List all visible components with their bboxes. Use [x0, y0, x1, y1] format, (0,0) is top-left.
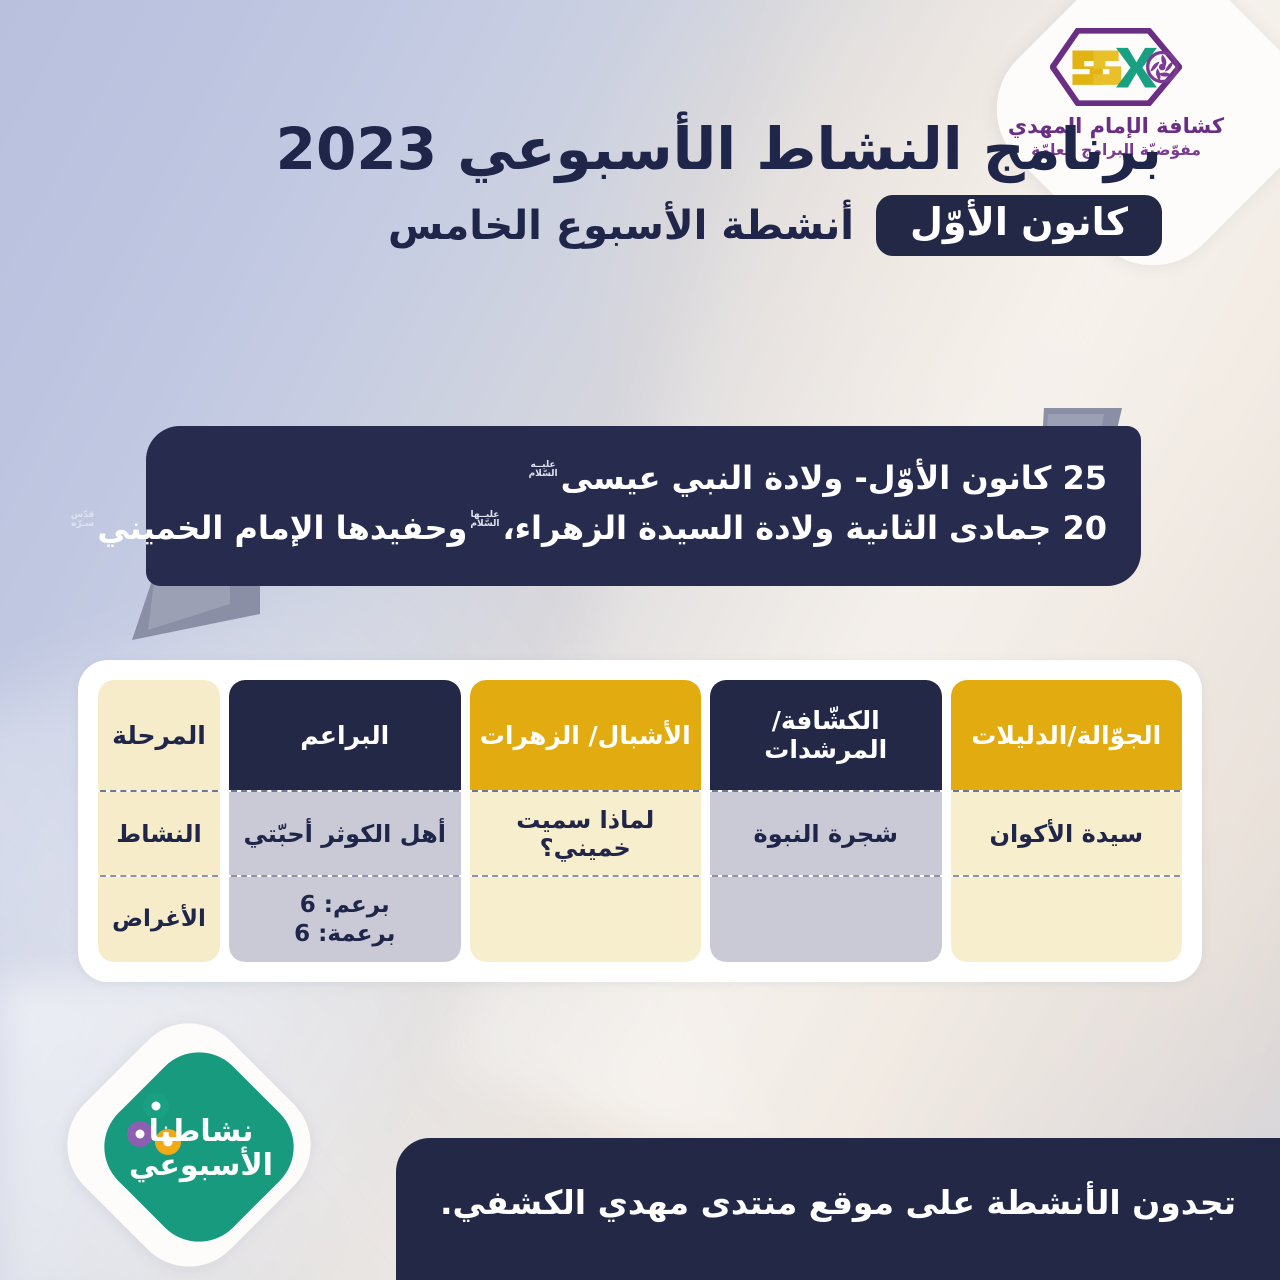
activity-cell: أهل الكوثر أحبّتي: [229, 792, 461, 875]
row-divider: [712, 875, 940, 877]
honorific-bottom: سـرّه: [71, 520, 95, 529]
row-divider: [100, 875, 218, 877]
ribbon-body: 25 كانون الأوّل- ولادة النبي عيسى عليــه…: [146, 426, 1141, 586]
row-divider: [953, 875, 1181, 877]
ribbon-line-1-text: 25 كانون الأوّل- ولادة النبي عيسى: [561, 454, 1107, 504]
flowers-icon: [126, 1090, 198, 1176]
ribbon-line-2: 20 جمادى الثانية ولادة السيدة الزهراء، ع…: [68, 504, 1107, 554]
supplies-list: برعم: 6 برعمة: 6: [294, 891, 395, 949]
ribbon-line-2-text-a: 20 جمادى الثانية ولادة السيدة الزهراء،: [502, 504, 1107, 554]
activities-table: الجوّالة/الدليلات سيدة الأكوان الكشّافة/…: [98, 680, 1182, 962]
month-badge: كانون الأوّل: [876, 195, 1162, 257]
honorific-bottom: السّلام: [470, 520, 499, 529]
row-divider: [712, 790, 940, 792]
row-label-stage: المرحلة: [98, 680, 220, 790]
heading-second-row: كانون الأوّل أنشطة الأسبوع الخامس: [402, 195, 1162, 257]
table-column-baraem: البراعم أهل الكوثر أحبّتي برعم: 6 برعمة:…: [229, 680, 461, 962]
row-divider: [231, 790, 459, 792]
ribbon-line-1: 25 كانون الأوّل- ولادة النبي عيسى عليــه…: [526, 454, 1107, 504]
table-column-ashbal: الأشبال/ الزهرات لماذا سميت خميني؟: [470, 680, 702, 962]
column-header: البراعم: [229, 680, 461, 790]
activity-cell: سيدة الأكوان: [951, 792, 1183, 875]
column-header: الكشّافة/المرشدات: [710, 680, 942, 790]
supplies-cell: [710, 877, 942, 962]
occasions-ribbon: 25 كانون الأوّل- ولادة النبي عيسى عليــه…: [110, 404, 1180, 654]
supplies-cell: [951, 877, 1183, 962]
row-label-activity: النشاط: [98, 792, 220, 875]
weekly-badge-shape: [84, 1032, 313, 1261]
footer-text: تجدون الأنشطة على موقع منتدى مهدي الكشفي…: [440, 1183, 1236, 1222]
footer-bar: تجدون الأنشطة على موقع منتدى مهدي الكشفي…: [396, 1138, 1280, 1280]
honorific-quddisa-sirruh: قدّس سـرّه: [71, 511, 95, 529]
activity-cell: لماذا سميت خميني؟: [470, 792, 702, 875]
row-label-supplies: الأغراض: [98, 877, 220, 962]
activities-table-panel: الجوّالة/الدليلات سيدة الأكوان الكشّافة/…: [78, 660, 1202, 982]
supplies-cell: [470, 877, 702, 962]
row-divider: [953, 790, 1181, 792]
supplies-line: برعم: 6: [294, 891, 395, 920]
poster-canvas: كشافة الإمام المهدي مفوّضيّة البرامج الع…: [0, 0, 1280, 1280]
table-column-jawala: الجوّالة/الدليلات سيدة الأكوان: [951, 680, 1183, 962]
supplies-cell: برعم: 6 برعمة: 6: [229, 877, 461, 962]
supplies-line: برعمة: 6: [294, 920, 395, 949]
ribbon-line-2-text-b: وحفيدها الإمام الخميني: [97, 504, 467, 554]
row-divider: [231, 875, 459, 877]
table-column-row-labels: المرحلة النشاط الأغراض: [98, 680, 220, 962]
row-divider: [472, 790, 700, 792]
page-subtitle: أنشطة الأسبوع الخامس: [388, 203, 854, 249]
activity-cell: شجرة النبوة: [710, 792, 942, 875]
imam-mahdi-scouts-emblem-icon: [1050, 28, 1182, 106]
honorific-bottom: السّلام: [529, 470, 558, 479]
table-column-kashafa: الكشّافة/المرشدات شجرة النبوة: [710, 680, 942, 962]
page-title: برنامج النشاط الأسبوعي 2023: [402, 118, 1162, 181]
column-header: الأشبال/ الزهرات: [470, 680, 702, 790]
column-header: الجوّالة/الدليلات: [951, 680, 1183, 790]
row-divider: [472, 875, 700, 877]
heading-block: برنامج النشاط الأسبوعي 2023 كانون الأوّل…: [402, 118, 1162, 256]
row-divider: [100, 790, 218, 792]
honorific-alayha-assalam: عليــها السّلام: [470, 511, 499, 529]
honorific-alayhi-assalam: عليــه السّلام: [529, 461, 558, 479]
